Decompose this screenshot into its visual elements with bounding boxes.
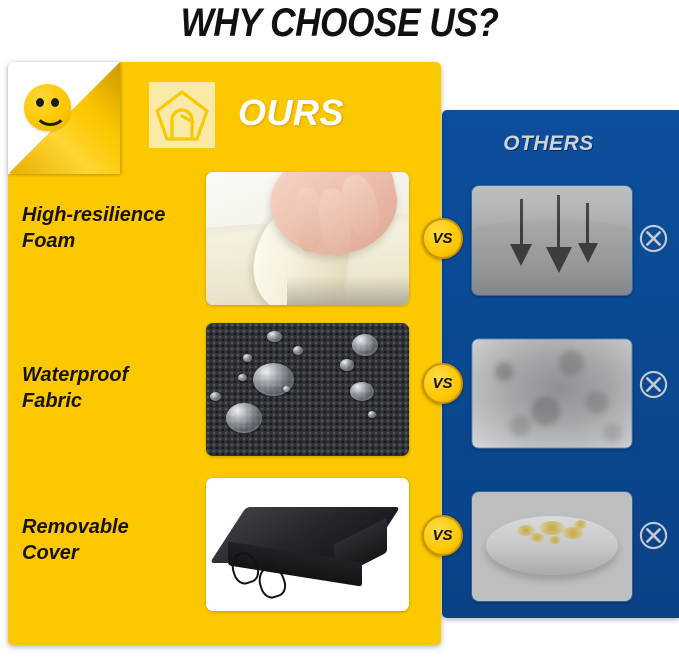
others-image-cover (471, 491, 633, 602)
feature-label-fabric: Waterproof Fabric (22, 363, 202, 414)
feature-label-cover: Removable Cover (22, 515, 202, 566)
vs-badge-row-2: VS (422, 363, 463, 404)
feature-label-cover-line2: Cover (22, 541, 202, 567)
down-arrow-2 (546, 195, 572, 284)
smiley-face-icon (24, 84, 71, 131)
feature-label-fabric-line2: Fabric (22, 389, 202, 415)
pet-house-icon (149, 82, 215, 148)
others-image-fabric (471, 338, 633, 449)
feature-label-foam-line1: High-resilience (22, 203, 202, 229)
page-curl-corner (8, 62, 120, 174)
ours-image-fabric (206, 323, 409, 456)
down-arrow-3 (578, 203, 598, 277)
vs-badge-row-1: VS (422, 218, 463, 259)
circle-cross-icon-row-1 (639, 224, 668, 253)
page-title: WHY CHOOSE US? (41, 1, 639, 46)
down-arrow-1 (510, 199, 532, 280)
others-heading: OTHERS (442, 132, 655, 156)
comparison-infographic: WHY CHOOSE US? OTHERS OURS High-resilien… (0, 0, 679, 662)
feature-label-fabric-line1: Waterproof (22, 363, 202, 389)
circle-cross-icon-row-3 (639, 521, 668, 550)
feature-label-foam-line2: Foam (22, 229, 202, 255)
ours-heading: OURS (238, 92, 344, 134)
ours-image-cover (206, 478, 409, 611)
ours-image-foam (206, 172, 409, 305)
vs-badge-row-3: VS (422, 515, 463, 556)
smiley-mouth (34, 102, 67, 126)
circle-cross-icon-row-2 (639, 370, 668, 399)
feature-label-foam: High-resilience Foam (22, 203, 202, 254)
feature-label-cover-line1: Removable (22, 515, 202, 541)
others-image-foam (471, 185, 633, 296)
